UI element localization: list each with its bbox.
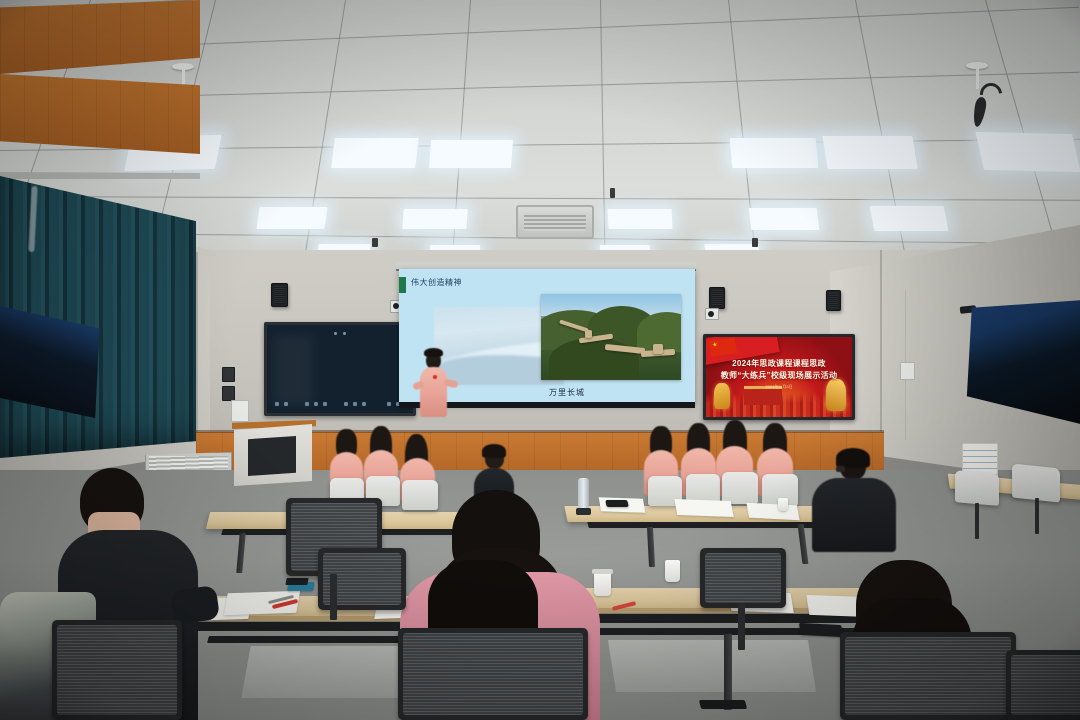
chair-foreground-far-right[interactable]: [1006, 650, 1080, 720]
paper-cup: [665, 560, 680, 582]
banner-line-1: 2024年思政课程课程思政: [706, 358, 852, 369]
chair-side-right[interactable]: [955, 470, 999, 506]
wall-speaker-mid: [709, 287, 725, 309]
ceiling-light-panel: [402, 209, 467, 229]
ceiling-light-panel: [870, 206, 949, 231]
banner-line-3: 2024年11月8日: [706, 384, 852, 390]
chair-post: [975, 503, 979, 539]
lectern-equipment-bay: [248, 436, 296, 476]
chair-foreground-center[interactable]: [398, 628, 588, 720]
chair-foreground-right[interactable]: [840, 632, 1016, 720]
ceiling-light-panel: [331, 138, 419, 168]
event-banner-display: ★ 2024年思政课程课程思政 教师“大练兵”校级现场展示活动 2024年11月…: [703, 334, 855, 420]
wall-switch-plate[interactable]: [900, 362, 915, 380]
banner-line-2: 教师“大练兵”校级现场展示活动: [706, 370, 852, 381]
thermos-bottle: [578, 478, 589, 511]
paper-sheet: [674, 499, 734, 517]
paper-cup: [594, 572, 611, 596]
chair-mid-right[interactable]: [700, 548, 786, 608]
paper-sheet: [746, 503, 799, 521]
classroom-scene: 伟大创造精神 万里长城 ★ 2024年思政课程课程思政 教师“大练兵”校级: [0, 0, 1080, 720]
chair-front-right[interactable]: [722, 472, 758, 504]
wall-speaker-right: [826, 290, 841, 311]
ceiling-light-panel: [256, 207, 327, 229]
tissue-box: [285, 578, 308, 585]
cup-lid: [592, 569, 613, 574]
iwb-taskbar[interactable]: [275, 400, 405, 407]
chair-post: [330, 574, 337, 620]
chair-front-left[interactable]: [402, 480, 438, 510]
projector-mount: [752, 238, 758, 247]
ceiling-light-panel: [607, 209, 672, 229]
thermos-base: [576, 508, 591, 515]
slide-heading: 伟大创造精神: [411, 277, 462, 288]
ceiling-light-panel: [429, 140, 513, 168]
phone-device[interactable]: [799, 623, 843, 637]
paper-cup: [778, 498, 788, 511]
slide-accent-tab: [399, 277, 406, 293]
ceiling-light-panel: [975, 132, 1080, 172]
iwb-status-bar: [334, 332, 346, 335]
wall-speaker-left: [271, 283, 288, 307]
desk-leg: [724, 634, 732, 710]
chair-post: [738, 604, 745, 650]
interactive-whiteboard[interactable]: [264, 322, 416, 416]
wall-camera-right: [705, 308, 719, 320]
wall-control-panel[interactable]: [222, 386, 235, 401]
wainscot-right: [0, 74, 200, 154]
ceiling-light-panel: [822, 136, 917, 169]
wall-notice-card: [231, 400, 249, 422]
projector-mount: [372, 238, 378, 247]
phone-device[interactable]: [605, 500, 628, 507]
slide-image-great-wall: [541, 294, 681, 380]
ceiling-light-panel: [749, 208, 820, 230]
desk-modesty-panel: [608, 640, 816, 692]
ceiling-light-panel: [730, 138, 819, 168]
chair-foreground-left[interactable]: [52, 620, 182, 720]
chair-side-right[interactable]: [1012, 463, 1060, 502]
wall-control-panel[interactable]: [222, 367, 235, 382]
slide-caption: 万里长城: [549, 387, 585, 398]
curtain-rail: [0, 172, 200, 179]
chair-post: [1035, 498, 1039, 534]
desk-foot: [699, 700, 747, 709]
ceiling-ac-vent: [516, 205, 594, 239]
